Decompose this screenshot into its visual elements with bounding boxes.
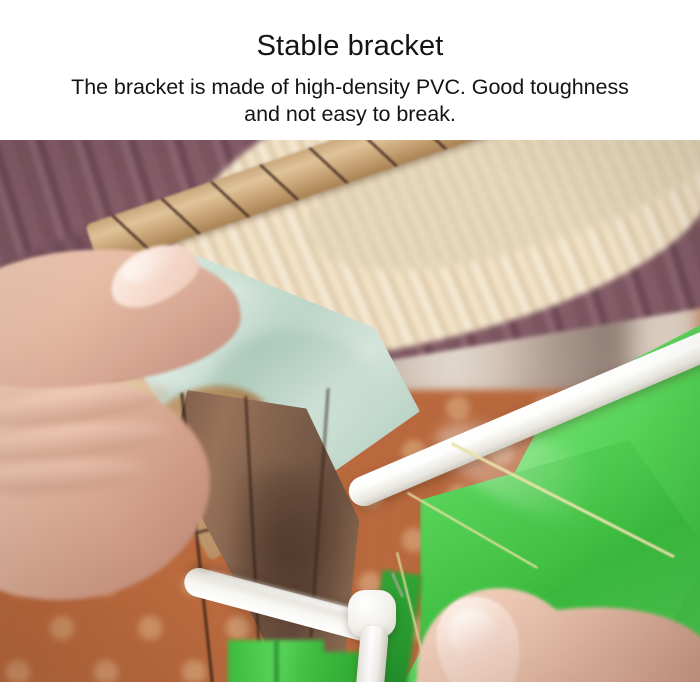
product-detail-image: Stable bracket The bracket is made of hi… <box>0 0 700 700</box>
page-title: Stable bracket <box>0 29 700 63</box>
product-photo <box>0 140 700 682</box>
subtitle-line-2: and not easy to break. <box>0 101 700 128</box>
bottom-white-strip <box>0 682 700 700</box>
header-text-band: Stable bracket The bracket is made of hi… <box>0 0 700 140</box>
right-thumbnail-shine <box>448 608 496 658</box>
page-subtitle: The bracket is made of high-density PVC.… <box>0 74 700 128</box>
green-fabric-leg-edge <box>274 640 279 682</box>
green-fabric-leg-2 <box>300 652 362 682</box>
subtitle-line-1: The bracket is made of high-density PVC.… <box>0 74 700 101</box>
